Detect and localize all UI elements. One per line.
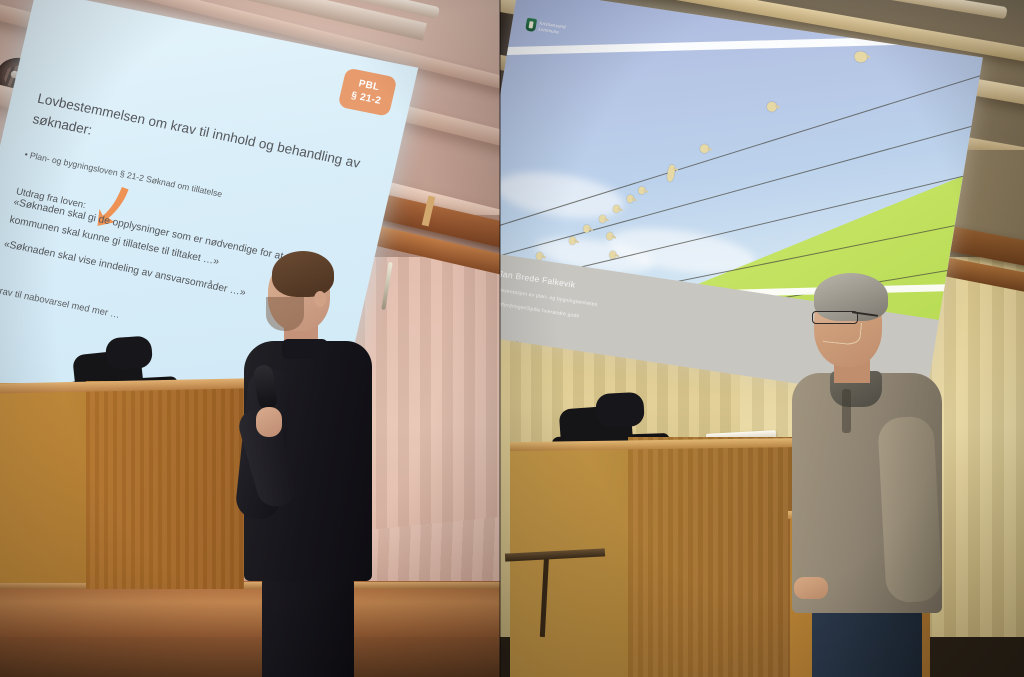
screenshot-canvas: PBL § 21-2 Lovbestemmelsen om krav til i… bbox=[0, 0, 1024, 677]
slide-title: Lovbestemmelsen om krav til innhold og b… bbox=[30, 89, 363, 196]
presenter-legs bbox=[262, 575, 354, 677]
presenter-collar bbox=[282, 339, 328, 359]
left-photo: PBL § 21-2 Lovbestemmelsen om krav til i… bbox=[0, 0, 500, 677]
headset-microphone-icon bbox=[823, 319, 862, 346]
chair-headrest bbox=[105, 335, 153, 370]
lectern-front-panel bbox=[86, 381, 244, 589]
lectern-side-panel bbox=[0, 383, 95, 583]
presenter-placket bbox=[842, 389, 851, 433]
presenter-hand bbox=[256, 407, 282, 437]
presenter-ear bbox=[314, 291, 326, 307]
pbl-badge: PBL § 21-2 bbox=[338, 67, 398, 116]
presenter-arm bbox=[877, 416, 943, 604]
chair-headrest bbox=[595, 392, 645, 428]
presenter-legs bbox=[812, 607, 922, 677]
lectern-side-panel bbox=[510, 447, 638, 677]
lectern-front-panel bbox=[628, 437, 798, 677]
coat-of-arms-icon bbox=[525, 18, 537, 32]
right-photo: Kristiansund kommune Jan Brede Falkevik … bbox=[500, 0, 1024, 677]
presenter-hand bbox=[794, 577, 828, 599]
presenter-name: Jan Brede Falkevik bbox=[500, 268, 576, 289]
presenter-left bbox=[240, 257, 380, 677]
presenter-beard bbox=[266, 297, 304, 331]
presenter-right bbox=[790, 277, 965, 677]
photo-divider bbox=[499, 0, 501, 677]
presenter-hair bbox=[272, 251, 334, 297]
